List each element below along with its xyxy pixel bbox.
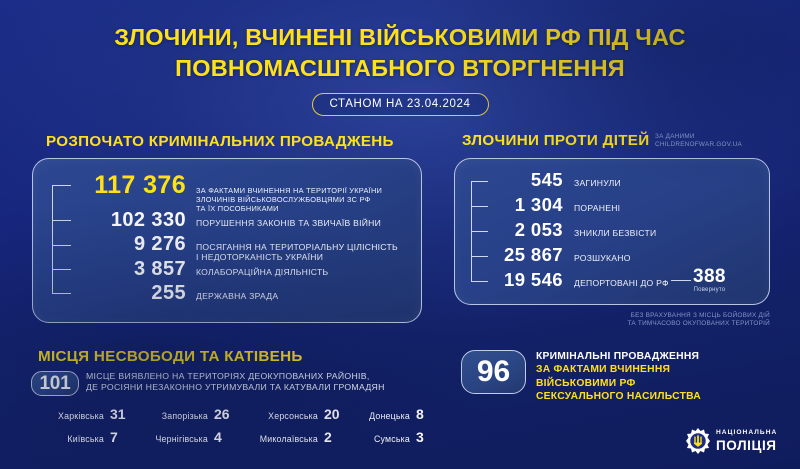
bracket-tick	[471, 231, 488, 232]
region-name: Харківська	[58, 411, 104, 421]
sexual-violence-line-1: КРИМІНАЛЬНІ ПРОВАДЖЕННЯ	[536, 350, 786, 363]
proceedings-value: 117 376	[73, 171, 186, 200]
region-name: Херсонська	[268, 411, 318, 421]
children-footnote: БЕЗ ВРАХУВАННЯ З МІСЦЬ БОЙОВИХ ДІЙ ТА ТИ…	[540, 312, 770, 329]
returned-value: 388	[693, 267, 726, 286]
proceedings-row: 102 330 ПОРУШЕННЯ ЗАКОНІВ ТА ЗВИЧАЇВ ВІЙ…	[73, 209, 381, 232]
children-source-attribution: ЗА ДАНИМИ CHILDRENOFWAR.GOV.UA	[655, 133, 742, 149]
bracket-tick	[471, 281, 488, 282]
proceedings-label: ДЕРЖАВНА ЗРАДА	[196, 291, 278, 301]
proceedings-row: 117 376 ЗА ФАКТАМИ ВЧИНЕННЯ НА ТЕРИТОРІЇ…	[73, 171, 382, 214]
proceedings-value: 102 330	[73, 209, 186, 232]
proceedings-row: 255 ДЕРЖАВНА ЗРАДА	[73, 282, 278, 305]
region-breakdown-grid: Харківська 31 Запорізька 26 Херсонська 2…	[24, 406, 434, 452]
children-label: ДЕПОРТОВАНІ ДО РФ	[574, 278, 669, 288]
region-value: 31	[110, 406, 128, 422]
police-logo-top-line: НАЦІОНАЛЬНА	[716, 430, 777, 437]
criminal-proceedings-heading: РОЗПОЧАТО КРИМІНАЛЬНИХ ПРОВАДЖЕНЬ	[46, 133, 394, 150]
region-value: 20	[324, 406, 342, 422]
children-value: 2 053	[489, 219, 563, 241]
infographic-canvas: ЗЛОЧИНИ, ВЧИНЕНІ ВІЙСЬКОВИМИ РФ ПІД ЧАС …	[0, 0, 800, 469]
source-line-2: CHILDRENOFWAR.GOV.UA	[655, 141, 742, 149]
children-row: 19 546 ДЕПОРТОВАНІ ДО РФ	[489, 269, 669, 291]
children-row: 25 867 РОЗШУКАНО	[489, 244, 631, 266]
region-name: Київська	[67, 434, 104, 444]
police-logo-bottom-line: ПОЛІЦІЯ	[716, 439, 777, 453]
proceedings-value: 9 276	[73, 233, 186, 256]
children-label: ПОРАНЕНІ	[574, 203, 620, 213]
children-label: ЗНИКЛИ БЕЗВІСТИ	[574, 228, 656, 238]
crimes-against-children-panel: 545 ЗАГИНУЛИ 1 304 ПОРАНЕНІ 2 053 ЗНИКЛИ…	[454, 158, 770, 305]
region-name: Запорізька	[162, 411, 208, 421]
criminal-proceedings-panel: 117 376 ЗА ФАКТАМИ ВЧИНЕННЯ НА ТЕРИТОРІЇ…	[32, 158, 422, 323]
region-name: Чернігівська	[155, 434, 208, 444]
children-row: 545 ЗАГИНУЛИ	[489, 169, 621, 191]
bracket-tick	[471, 206, 488, 207]
bracket-tick	[52, 269, 71, 270]
proceedings-label: ПОРУШЕННЯ ЗАКОНІВ ТА ЗВИЧАЇВ ВІЙНИ	[196, 218, 381, 228]
detention-description: МІСЦЕ ВИЯВЛЕНО НА ТЕРИТОРІЯХ ДЕОКУПОВАНИ…	[86, 371, 436, 393]
region-item: Донецька 8	[342, 406, 434, 429]
proceedings-row: 3 857 КОЛАБОРАЦІЙНА ДІЯЛЬНІСТЬ	[73, 258, 328, 281]
proceedings-value: 3 857	[73, 258, 186, 281]
sexual-violence-line-4: СЕКСУАЛЬНОГО НАСИЛЬСТВА	[536, 390, 786, 403]
proceedings-value: 255	[73, 282, 186, 305]
bracket-tick	[52, 245, 71, 246]
children-value: 545	[489, 169, 563, 191]
children-row: 1 304 ПОРАНЕНІ	[489, 194, 620, 216]
proceedings-label: ПОСЯГАННЯ НА ТЕРИТОРІАЛЬНУ ЦІЛІСНІСТЬ	[196, 242, 398, 252]
region-item: Чернігівська 4	[128, 429, 232, 452]
region-name: Миколаївська	[260, 434, 318, 444]
detention-torture-heading: МІСЦЯ НЕСВОБОДИ ТА КАТІВЕНЬ	[38, 348, 303, 365]
region-value: 26	[214, 406, 232, 422]
region-item: Київська 7	[24, 429, 128, 452]
region-item: Запорізька 26	[128, 406, 232, 429]
region-value: 3	[416, 429, 434, 445]
national-police-logo: НАЦІОНАЛЬНА ПОЛІЦІЯ	[686, 424, 790, 458]
sexual-violence-line-2: ЗА ФАКТАМИ ВЧИНЕННЯ	[536, 363, 786, 376]
region-value: 2	[324, 429, 342, 445]
children-row: 2 053 ЗНИКЛИ БЕЗВІСТИ	[489, 219, 656, 241]
sexual-violence-line-3: ВІЙСЬКОВИМИ РФ	[536, 377, 786, 390]
detention-desc-line-1: МІСЦЕ ВИЯВЛЕНО НА ТЕРИТОРІЯХ ДЕОКУПОВАНИ…	[86, 371, 436, 382]
criminal-proceedings-bracket	[52, 185, 53, 293]
region-item: Миколаївська 2	[232, 429, 342, 452]
page-title-line-1: ЗЛОЧИНИ, ВЧИНЕНІ ВІЙСЬКОВИМИ РФ ПІД ЧАС	[0, 22, 800, 53]
region-name: Донецька	[369, 411, 410, 421]
as-of-date-badge: СТАНОМ НА 23.04.2024	[312, 93, 489, 116]
detention-count-badge: 101	[31, 371, 79, 396]
proceedings-label: КОЛАБОРАЦІЙНА ДІЯЛЬНІСТЬ	[196, 267, 328, 277]
source-line-1: ЗА ДАНИМИ	[655, 133, 742, 141]
sexual-violence-description: КРИМІНАЛЬНІ ПРОВАДЖЕННЯ ЗА ФАКТАМИ ВЧИНЕ…	[536, 350, 786, 403]
returned-connector	[671, 280, 691, 281]
children-value: 19 546	[489, 269, 563, 291]
police-star-badge-icon	[686, 428, 710, 454]
bracket-tick	[471, 181, 488, 182]
bracket-tick	[471, 256, 488, 257]
region-value: 4	[214, 429, 232, 445]
returned-label: Повернуто	[693, 287, 726, 293]
region-value: 7	[110, 429, 128, 445]
bracket-tick	[52, 185, 71, 186]
children-label: РОЗШУКАНО	[574, 253, 631, 263]
sexual-violence-count-badge: 96	[461, 350, 526, 394]
police-logo-text: НАЦІОНАЛЬНА ПОЛІЦІЯ	[716, 430, 777, 452]
region-item: Херсонська 20	[232, 406, 342, 429]
children-value: 1 304	[489, 194, 563, 216]
proceedings-label: ЗА ФАКТАМИ ВЧИНЕННЯ НА ТЕРИТОРІЇ УКРАЇНИ	[196, 186, 382, 195]
header: ЗЛОЧИНИ, ВЧИНЕНІ ВІЙСЬКОВИМИ РФ ПІД ЧАС …	[0, 22, 800, 116]
region-item: Сумська 3	[342, 429, 434, 452]
bracket-tick	[52, 293, 71, 294]
bracket-tick	[52, 220, 71, 221]
page-title-line-2: ПОВНОМАСШТАБНОГО ВТОРГНЕННЯ	[0, 53, 800, 84]
region-value: 8	[416, 406, 434, 422]
children-label: ЗАГИНУЛИ	[574, 178, 621, 188]
footnote-line-2: ТА ТИМЧАСОВО ОКУПОВАНИХ ТЕРИТОРІЙ	[540, 320, 770, 328]
proceedings-label: ЗЛОЧИНІВ ВІЙСЬКОВОСЛУЖБОВЦЯМИ ЗС РФ	[196, 195, 382, 204]
region-name: Сумська	[374, 434, 410, 444]
region-item: Харківська 31	[24, 406, 128, 429]
returned-group: 388 Повернуто	[693, 267, 726, 293]
detention-desc-line-2: ДЕ РОСІЯНИ НЕЗАКОННО УТРИМУВАЛИ ТА КАТУВ…	[86, 382, 436, 393]
crimes-against-children-heading: ЗЛОЧИНИ ПРОТИ ДІТЕЙ	[462, 132, 649, 149]
children-value: 25 867	[489, 244, 563, 266]
